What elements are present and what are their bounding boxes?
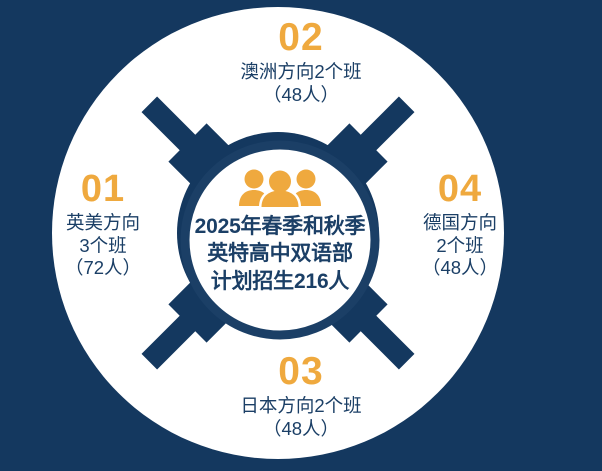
enrollment-infographic: 02 澳洲方向2个班 （48人） 01 英美方向 3个班 （72人） 04 德国… (0, 0, 602, 471)
donut-ring-graphic (0, 0, 602, 471)
center-circle (185, 145, 375, 335)
